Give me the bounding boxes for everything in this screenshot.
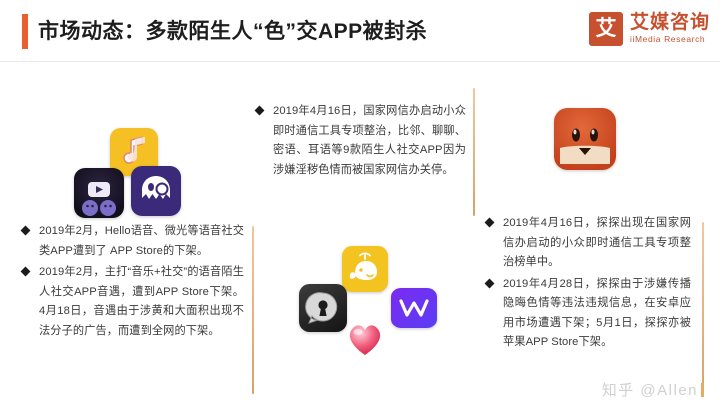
- play-button-icon: [74, 168, 124, 218]
- list-item: 2019年4月16日，国家网信办启动小众即时通信工具专项整治，比邻、聊聊、密语、…: [256, 102, 466, 180]
- column-divider-right: [702, 222, 704, 394]
- diamond-bullet-icon: [255, 106, 265, 116]
- w-letter-icon: [391, 288, 437, 328]
- watermark-text: 知乎 @Allen: [602, 379, 698, 400]
- w-app-icon: [391, 288, 437, 328]
- middle-icon-cluster: [296, 246, 446, 358]
- diamond-bullet-icon: [21, 226, 31, 236]
- logo-name-en: iiMedia Research: [630, 34, 710, 45]
- diamond-bullet-icon: [485, 278, 495, 288]
- list-item-text: 2019年2月，Hello语音、微光等语音社交类APP遭到了 APP Store…: [39, 225, 244, 257]
- list-item-text: 2019年4月28日，探探由于涉嫌传播隐晦色情等违法违规信息，在安卓应用市场遭遇…: [503, 278, 691, 349]
- page-title: 市场动态：多款陌生人“色”交APP被封杀: [38, 14, 427, 49]
- column-divider-left: [252, 226, 254, 394]
- title-accent-bar: [22, 14, 28, 49]
- heart-app-icon: [344, 320, 386, 358]
- fox-face-icon: [554, 108, 616, 170]
- watermark: 知乎 @Allen: [602, 379, 704, 400]
- list-item: 2019年2月，主打“音乐+社交”的语音陌生人社交APP音遇，遭到APP Sto…: [22, 263, 244, 341]
- list-item: 2019年4月16日，探探出现在国家网信办启动的小众即时通信工具专项整治榜单中。: [486, 214, 691, 273]
- heart-icon: [344, 320, 386, 358]
- column-middle: 2019年4月16日，国家网信办启动小众即时通信工具专项整治，比邻、聊聊、密语、…: [256, 70, 468, 400]
- octopus-app-icon: [131, 166, 181, 216]
- right-bullet-list: 2019年4月16日，探探出现在国家网信办启动的小众即时通信工具专项整治榜单中。…: [486, 214, 691, 355]
- imedia-logo: 艾 艾媒咨询 iiMedia Research: [589, 12, 710, 46]
- column-left: 2019年2月，Hello语音、微光等语音社交类APP遭到了 APP Store…: [14, 70, 246, 400]
- logo-name-cn: 艾媒咨询: [630, 12, 710, 34]
- left-bullet-list: 2019年2月，Hello语音、微光等语音社交类APP遭到了 APP Store…: [22, 222, 244, 343]
- page-header: 市场动态：多款陌生人“色”交APP被封杀 艾 艾媒咨询 iiMedia Rese…: [0, 0, 720, 62]
- octopus-icon: [131, 166, 181, 216]
- list-item: 2019年2月，Hello语音、微光等语音社交类APP遭到了 APP Store…: [22, 222, 244, 261]
- lock-chat-app-icon: [299, 284, 347, 332]
- diamond-bullet-icon: [485, 218, 495, 228]
- whale-icon: [342, 246, 388, 292]
- logo-text: 艾媒咨询 iiMedia Research: [630, 12, 710, 45]
- keyhole-speech-bubble-icon: [299, 284, 347, 332]
- diamond-bullet-icon: [21, 267, 31, 277]
- header-divider: [0, 61, 720, 62]
- fox-app-icon: [554, 108, 616, 170]
- left-icon-cluster: [74, 128, 204, 228]
- column-right: 2019年4月16日，探探出现在国家网信办启动的小众即时通信工具专项整治榜单中。…: [486, 70, 698, 400]
- list-item-text: 2019年4月16日，国家网信办启动小众即时通信工具专项整治，比邻、聊聊、密语、…: [273, 105, 466, 176]
- video-app-icon: [74, 168, 124, 218]
- bird-app-icon: [342, 246, 388, 292]
- watermark-caret-icon: [701, 383, 704, 397]
- logo-mark-icon: 艾: [589, 12, 623, 46]
- column-divider-middle: [473, 88, 475, 216]
- right-icon-cluster: [554, 108, 634, 188]
- list-item-text: 2019年2月，主打“音乐+社交”的语音陌生人社交APP音遇，遭到APP Sto…: [39, 266, 244, 337]
- list-item-text: 2019年4月16日，探探出现在国家网信办启动的小众即时通信工具专项整治榜单中。: [503, 217, 691, 268]
- list-item: 2019年4月28日，探探由于涉嫌传播隐晦色情等违法违规信息，在安卓应用市场遭遇…: [486, 275, 691, 353]
- middle-bullet-list: 2019年4月16日，国家网信办启动小众即时通信工具专项整治，比邻、聊聊、密语、…: [256, 102, 466, 182]
